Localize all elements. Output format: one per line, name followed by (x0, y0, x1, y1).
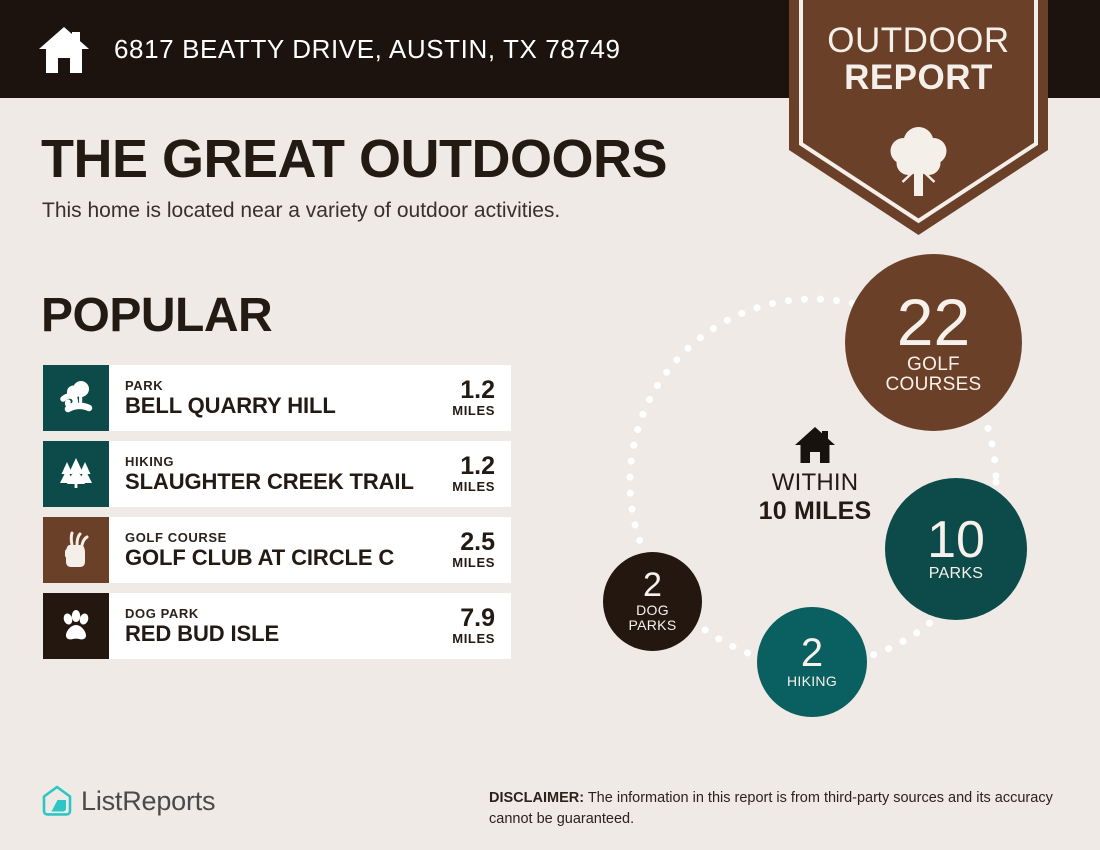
popular-section-heading: POPULAR (41, 288, 272, 343)
center-label-line2: 10 MILES (705, 497, 925, 525)
poi-category: PARK (125, 378, 446, 394)
disclaimer: DISCLAIMER: The information in this repo… (489, 788, 1064, 829)
poi-distance: 1.2 MILES (446, 441, 511, 507)
bubble-label-line1: PARKS (929, 566, 984, 583)
poi-text: PARK BELL QUARRY HILL (109, 365, 446, 431)
bubble-value: 2 (801, 635, 823, 673)
page-title: THE GREAT OUTDOORS (41, 128, 667, 190)
bubble-label-line1: HIKING (787, 674, 837, 689)
paw-print-icon (56, 606, 96, 646)
poi-icon-tile-park (43, 365, 109, 431)
poi-distance-unit: MILES (452, 403, 495, 419)
park-tree-icon (56, 378, 96, 418)
property-address: 6817 BEATTY DRIVE, AUSTIN, TX 78749 (114, 34, 621, 65)
poi-name: GOLF CLUB AT CIRCLE C (125, 546, 446, 571)
poi-name: SLAUGHTER CREEK TRAIL (125, 470, 446, 495)
poi-distance-value: 7.9 (460, 605, 495, 632)
listreports-logo-text: ListReports (81, 786, 215, 817)
chart-center-label: WITHIN 10 MILES (705, 425, 925, 525)
bubble-label-line1: DOG (636, 603, 669, 618)
outdoor-report-badge: OUTDOOR REPORT (789, 0, 1048, 235)
poi-icon-tile-golf (43, 517, 109, 583)
poi-distance-unit: MILES (452, 555, 495, 571)
poi-distance: 7.9 MILES (446, 593, 511, 659)
popular-places-list: PARK BELL QUARRY HILL 1.2 MILES HIKING S… (43, 365, 511, 669)
bubble-label-line1: GOLF (907, 355, 960, 375)
bubble-value: 10 (927, 516, 985, 565)
within-10-miles-bubble-chart: 22 GOLF COURSES 10 PARKS 2 HIKING 2 DOG … (575, 240, 1055, 740)
disclaimer-label: DISCLAIMER: (489, 790, 584, 806)
poi-icon-tile-dogpark (43, 593, 109, 659)
list-item[interactable]: GOLF COURSE GOLF CLUB AT CIRCLE C 2.5 MI… (43, 517, 511, 583)
poi-distance-value: 2.5 (460, 529, 495, 556)
list-item[interactable]: DOG PARK RED BUD ISLE 7.9 MILES (43, 593, 511, 659)
bubble-hiking[interactable]: 2 HIKING (757, 607, 867, 717)
bubble-label-line2: COURSES (885, 375, 981, 395)
home-icon (793, 425, 837, 465)
list-item[interactable]: HIKING SLAUGHTER CREEK TRAIL 1.2 MILES (43, 441, 511, 507)
page-subtitle: This home is located near a variety of o… (42, 199, 560, 223)
poi-name: RED BUD ISLE (125, 622, 446, 647)
listreports-house-icon (41, 784, 73, 818)
bubble-value: 2 (643, 570, 662, 602)
bubble-value: 22 (897, 291, 970, 353)
poi-distance-value: 1.2 (460, 453, 495, 480)
listreports-logo[interactable]: ListReports (41, 784, 215, 818)
poi-category: GOLF COURSE (125, 530, 446, 546)
poi-text: HIKING SLAUGHTER CREEK TRAIL (109, 441, 446, 507)
poi-category: DOG PARK (125, 606, 446, 622)
poi-text: DOG PARK RED BUD ISLE (109, 593, 446, 659)
home-icon (36, 24, 92, 76)
poi-distance: 1.2 MILES (446, 365, 511, 431)
poi-text: GOLF COURSE GOLF CLUB AT CIRCLE C (109, 517, 446, 583)
poi-distance-value: 1.2 (460, 377, 495, 404)
poi-icon-tile-hiking (43, 441, 109, 507)
list-item[interactable]: PARK BELL QUARRY HILL 1.2 MILES (43, 365, 511, 431)
poi-distance: 2.5 MILES (446, 517, 511, 583)
golf-bag-icon (56, 530, 96, 570)
poi-category: HIKING (125, 454, 446, 470)
center-label-line1: WITHIN (705, 470, 925, 497)
pine-trees-icon (56, 454, 96, 494)
poi-name: BELL QUARRY HILL (125, 394, 446, 419)
poi-distance-unit: MILES (452, 479, 495, 495)
bubble-label-line2: PARKS (629, 618, 677, 633)
bubble-golf-courses[interactable]: 22 GOLF COURSES (845, 254, 1022, 431)
bubble-dog-parks[interactable]: 2 DOG PARKS (603, 552, 702, 651)
poi-distance-unit: MILES (452, 631, 495, 647)
